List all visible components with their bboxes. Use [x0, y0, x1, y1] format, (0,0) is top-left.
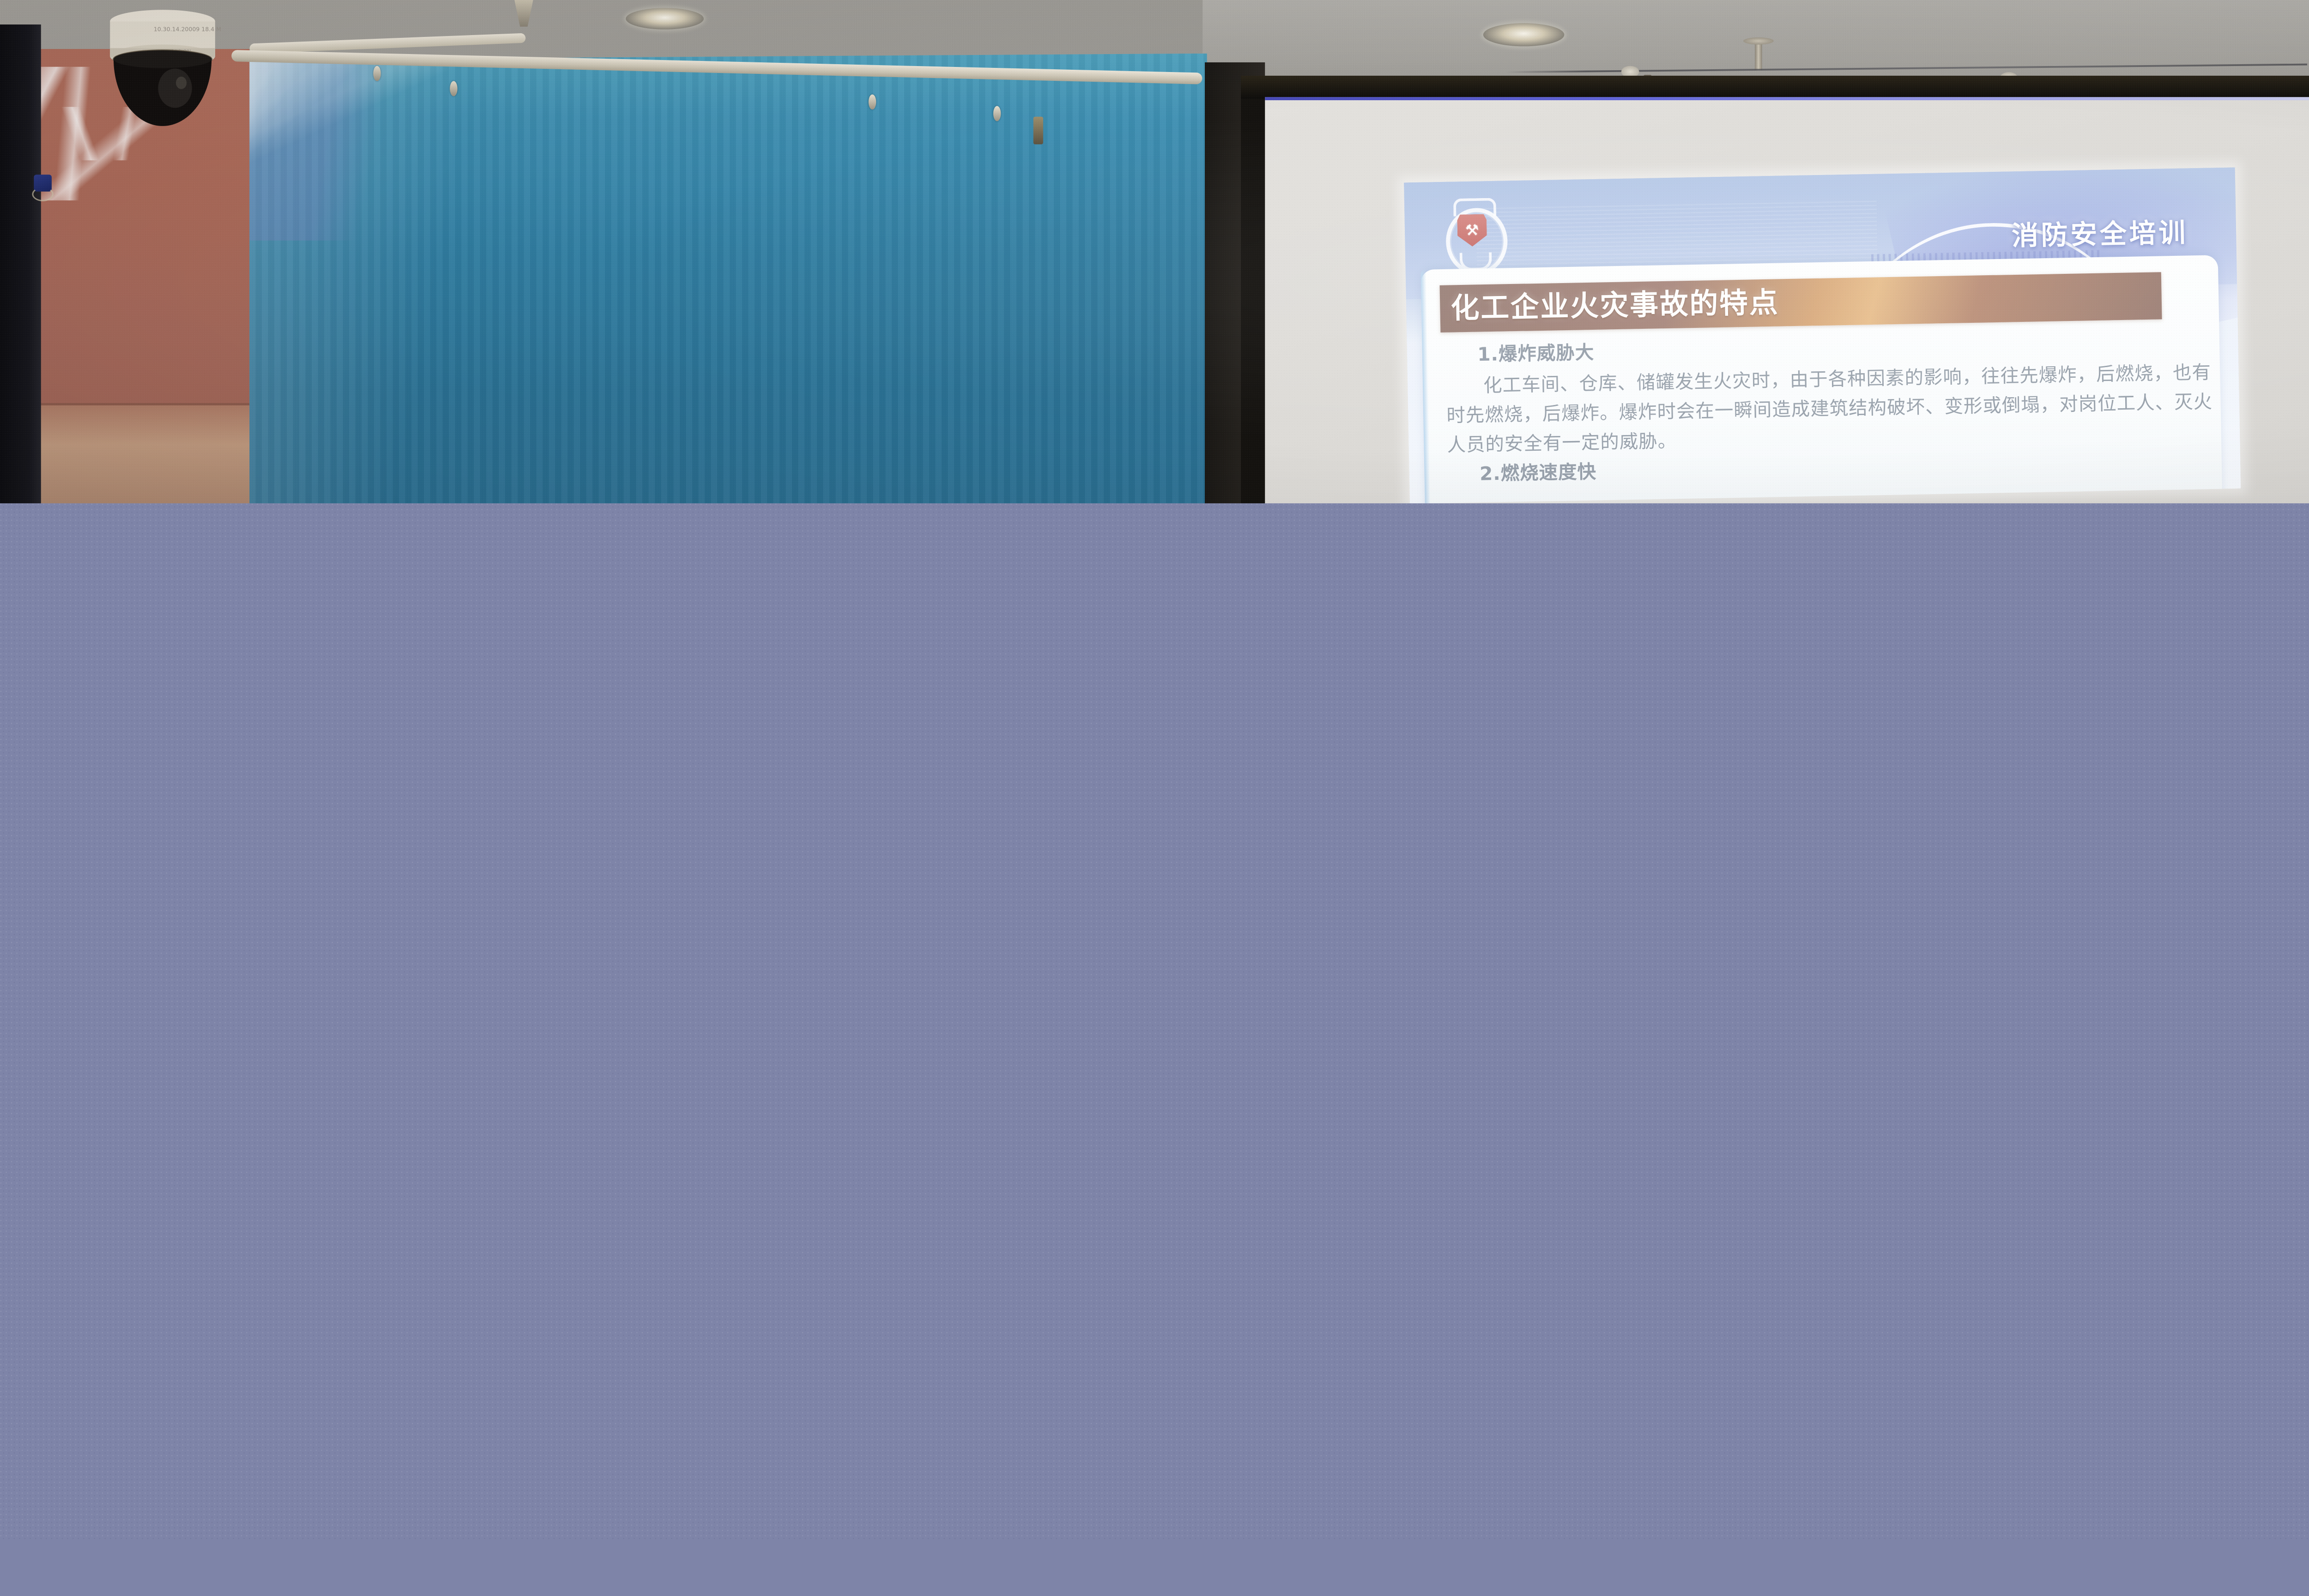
dark-foreground-object	[0, 24, 41, 504]
slide-header-title: 消防安全培训	[2011, 211, 2188, 253]
training-room-photo: 10.30.14.20009 18.4 M HIKVISION	[0, 0, 2309, 504]
slide-body: 1.爆炸威胁大 化工车间、仓库、储罐发生火灾时，由于各种因素的影响，往往先爆炸，…	[1445, 326, 2223, 503]
tarp-grommet	[993, 106, 1001, 121]
ceiling-hook-icon	[1755, 41, 1762, 71]
recessed-downlight-icon	[626, 8, 704, 29]
fire-service-emblem-icon: ⚒	[1444, 196, 1502, 271]
slide-section-title-bar: 化工企业火灾事故的特点	[1440, 272, 2162, 332]
tarp-hanging-clip	[1034, 117, 1043, 145]
cap-ring	[32, 187, 53, 201]
slide-body-paragraph-1: 化工车间、仓库、储罐发生火灾时，由于各种因素的影响，往往先爆炸，后燃烧，也有时先…	[1446, 357, 2222, 460]
svg-text:10.30.14.20009 18.4 M: 10.30.14.20009 18.4 M	[154, 26, 221, 33]
projector-edge-glow	[1265, 97, 2309, 100]
blank-filler-area	[0, 503, 2309, 1539]
blue-protective-tarp	[249, 54, 1207, 504]
emblem-glyph: ⚒	[1464, 221, 1480, 239]
slide-section-title: 化工企业火灾事故的特点	[1451, 286, 1779, 325]
projection-screen-frame-top	[1241, 76, 2309, 99]
recessed-downlight-icon	[1483, 23, 1565, 46]
tarp-grommet	[869, 94, 876, 109]
tarp-grommet	[373, 66, 381, 81]
projected-slide: ⚒ 消防安全培训 化工企业火灾事故的特点 1.爆炸威胁大 化工车间、仓库、储罐发…	[1404, 167, 2241, 503]
dome-camera-icon: 10.30.14.20009 18.4 M HIKVISION	[69, 4, 256, 191]
screenshot-canvas: 10.30.14.20009 18.4 M HIKVISION	[0, 0, 2309, 1539]
slide-content-card: 化工企业火灾事故的特点 1.爆炸威胁大 化工车间、仓库、储罐发生火灾时，由于各种…	[1420, 255, 2222, 504]
tarp-grommet	[450, 81, 457, 97]
